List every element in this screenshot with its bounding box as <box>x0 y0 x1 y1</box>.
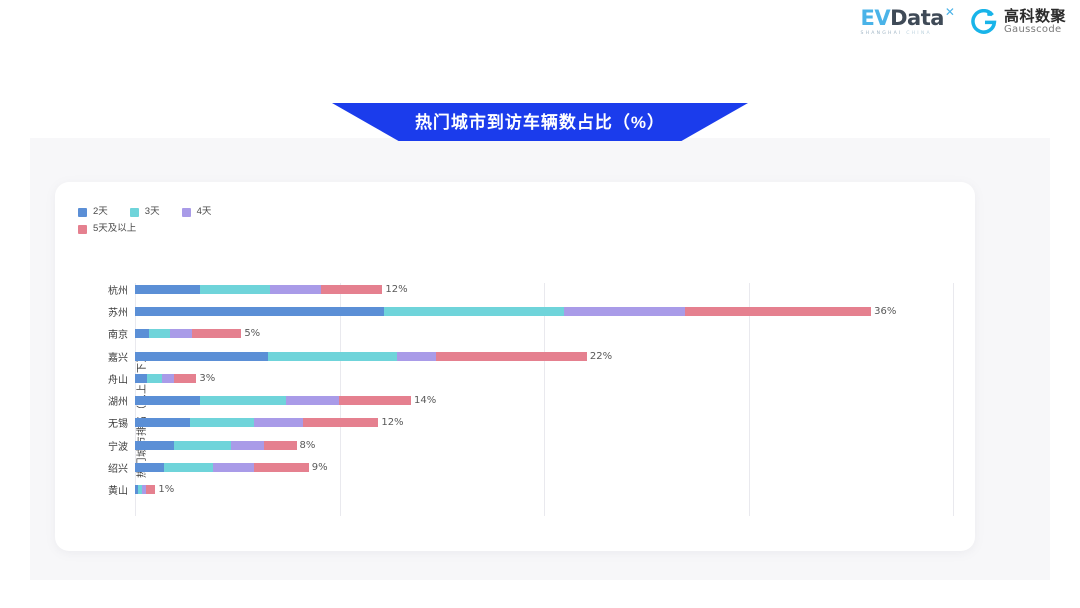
y-axis-tick-label: 黄山 <box>68 482 135 497</box>
bar-segment[interactable] <box>321 285 382 294</box>
bar-rows: 杭州12%苏州36%南京5%嘉兴22%舟山3%湖州14%无锡12%宁波8%绍兴9… <box>55 278 975 501</box>
bar-segment[interactable] <box>303 418 379 427</box>
page-title: 热门城市到访车辆数占比（%） <box>415 108 665 133</box>
bar-segment[interactable] <box>170 329 192 338</box>
bar-row[interactable]: 黄山1% <box>55 479 975 501</box>
bar-segment[interactable] <box>174 374 196 383</box>
evdata-word-data: Data <box>890 6 944 30</box>
chart-plot-area: 热门城市排名（从上到下） 杭州12%苏州36%南京5%嘉兴22%舟山3%湖州14… <box>55 182 975 551</box>
bar-value-label: 9% <box>312 462 328 473</box>
bar-segment[interactable] <box>436 352 587 361</box>
bar-container: 3% <box>135 367 215 389</box>
bar-container: 14% <box>135 389 436 411</box>
gausscode-name-cn: 高科数聚 <box>1004 9 1066 25</box>
bar-segment[interactable] <box>192 329 241 338</box>
bar-row[interactable]: 湖州14% <box>55 389 975 411</box>
bar-container: 9% <box>135 456 328 478</box>
bar-segment[interactable] <box>135 352 268 361</box>
bar-segment[interactable] <box>135 374 147 383</box>
bar-value-label: 5% <box>244 328 260 339</box>
bar-value-label: 12% <box>381 417 403 428</box>
page-header: EVData ✕ SHANGHAI CHINA 高科数聚 Gausscode <box>0 0 1080 56</box>
bar-container: 12% <box>135 278 408 300</box>
y-axis-tick-label: 湖州 <box>68 393 135 408</box>
bar-row[interactable]: 苏州36% <box>55 300 975 322</box>
y-axis-tick-label: 宁波 <box>68 438 135 453</box>
evdata-word-ev: EV <box>861 6 891 30</box>
bar-segment[interactable] <box>339 396 411 405</box>
bar-row[interactable]: 无锡12% <box>55 412 975 434</box>
y-axis-tick-label: 杭州 <box>68 282 135 297</box>
bar-segment[interactable] <box>270 285 321 294</box>
bar-segment[interactable] <box>135 396 200 405</box>
bar-segment[interactable] <box>146 485 155 494</box>
bar-segment[interactable] <box>286 396 339 405</box>
stacked-bar[interactable] <box>135 374 196 383</box>
logo-group: EVData ✕ SHANGHAI CHINA 高科数聚 Gausscode <box>861 8 1067 37</box>
bar-segment[interactable] <box>564 307 685 316</box>
bar-container: 12% <box>135 412 404 434</box>
bar-segment[interactable] <box>135 463 164 472</box>
bar-row[interactable]: 嘉兴22% <box>55 345 975 367</box>
bar-segment[interactable] <box>164 463 213 472</box>
bar-row[interactable]: 杭州12% <box>55 278 975 300</box>
bar-segment[interactable] <box>147 374 161 383</box>
stacked-bar[interactable] <box>135 418 378 427</box>
stacked-bar[interactable] <box>135 441 297 450</box>
y-axis-tick-label: 嘉兴 <box>68 349 135 364</box>
bar-value-label: 1% <box>158 484 174 495</box>
gausscode-text: 高科数聚 Gausscode <box>1004 9 1066 35</box>
y-axis-tick-label: 绍兴 <box>68 460 135 475</box>
evdata-x-icon: ✕ <box>945 6 955 18</box>
bar-row[interactable]: 南京5% <box>55 323 975 345</box>
bar-segment[interactable] <box>190 418 253 427</box>
bar-segment[interactable] <box>174 441 231 450</box>
y-axis-tick-label: 无锡 <box>68 415 135 430</box>
stacked-bar[interactable] <box>135 485 155 494</box>
bar-row[interactable]: 绍兴9% <box>55 456 975 478</box>
stacked-bar[interactable] <box>135 307 871 316</box>
gausscode-name-en: Gausscode <box>1004 25 1066 36</box>
bar-segment[interactable] <box>162 374 174 383</box>
bar-value-label: 8% <box>300 440 316 451</box>
gausscode-mark-icon <box>971 9 997 35</box>
bar-value-label: 14% <box>414 395 436 406</box>
y-axis-tick-label: 南京 <box>68 326 135 341</box>
bar-value-label: 36% <box>874 306 896 317</box>
bar-container: 8% <box>135 434 315 456</box>
bar-segment[interactable] <box>200 396 286 405</box>
bar-segment[interactable] <box>254 463 309 472</box>
bar-row[interactable]: 宁波8% <box>55 434 975 456</box>
bar-container: 1% <box>135 479 174 501</box>
stacked-bar[interactable] <box>135 285 382 294</box>
bar-value-label: 12% <box>385 284 407 295</box>
bar-segment[interactable] <box>135 285 200 294</box>
evdata-word: EVData <box>861 8 944 29</box>
bar-value-label: 22% <box>590 351 612 362</box>
bar-segment[interactable] <box>685 307 871 316</box>
bar-segment[interactable] <box>384 307 564 316</box>
bar-segment[interactable] <box>231 441 264 450</box>
bar-segment[interactable] <box>268 352 397 361</box>
bar-segment[interactable] <box>135 418 190 427</box>
bar-segment[interactable] <box>135 329 149 338</box>
evdata-wordmark: EVData ✕ <box>861 8 955 29</box>
evdata-subtitle: SHANGHAI CHINA <box>861 32 932 37</box>
bar-segment[interactable] <box>149 329 169 338</box>
evdata-subtitle-country: CHINA <box>906 31 932 36</box>
bar-segment[interactable] <box>135 307 384 316</box>
bar-segment[interactable] <box>397 352 436 361</box>
gausscode-logo: 高科数聚 Gausscode <box>971 9 1066 35</box>
chart-card: 2天3天4天5天及以上 热门城市排名（从上到下） 杭州12%苏州36%南京5%嘉… <box>55 182 975 551</box>
bar-container: 5% <box>135 323 260 345</box>
evdata-subtitle-city: SHANGHAI <box>861 31 903 36</box>
stacked-bar[interactable] <box>135 329 241 338</box>
bar-segment[interactable] <box>200 285 270 294</box>
bar-container: 36% <box>135 300 896 322</box>
stacked-bar[interactable] <box>135 352 587 361</box>
section-title-ribbon: 热门城市到访车辆数占比（%） <box>332 103 748 141</box>
y-axis-tick-label: 舟山 <box>68 371 135 386</box>
evdata-logo: EVData ✕ SHANGHAI CHINA <box>861 8 955 37</box>
bar-segment[interactable] <box>254 418 303 427</box>
bar-segment[interactable] <box>264 441 297 450</box>
bar-container: 22% <box>135 345 612 367</box>
y-axis-tick-label: 苏州 <box>68 304 135 319</box>
bar-row[interactable]: 舟山3% <box>55 367 975 389</box>
stacked-bar[interactable] <box>135 396 411 405</box>
stacked-bar[interactable] <box>135 463 309 472</box>
bar-segment[interactable] <box>135 441 174 450</box>
bar-segment[interactable] <box>213 463 254 472</box>
bar-value-label: 3% <box>199 373 215 384</box>
